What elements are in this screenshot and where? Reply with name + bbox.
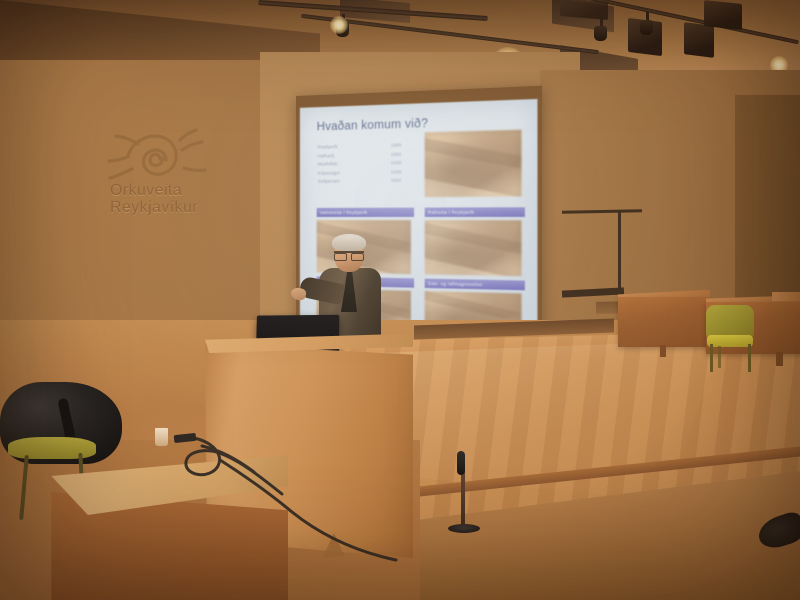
list-item-value: 1929	[391, 168, 402, 177]
microphone-stand	[461, 470, 465, 526]
list-item-value: 1902	[391, 150, 402, 159]
ceiling-speaker	[704, 0, 742, 30]
ceiling-speaker	[684, 22, 714, 58]
list-item-label: Hafnarfj.	[318, 152, 335, 161]
list-item-label: Seltjarnarn	[318, 178, 340, 187]
venue-logo-text: Orkuveita Reykjavíkur	[110, 182, 198, 216]
slide-title: Hvaðan komum við?	[317, 118, 428, 134]
logo-line-1: Orkuveita	[110, 182, 198, 199]
list-item-value: 1909	[391, 141, 402, 150]
spotlight	[640, 20, 653, 35]
lamp-glow	[330, 16, 348, 34]
chair-leg	[718, 346, 721, 368]
slide-banner: Rafveita í Reykjavík	[425, 207, 525, 217]
glasses-icon	[334, 251, 364, 259]
slide-list: Reykjavík 1909 Hafnarfj. 1902 Mosfellsb.…	[318, 141, 402, 186]
slide-photo	[425, 130, 522, 197]
list-item-label: Mosfellsb.	[318, 160, 339, 169]
list-item: Seltjarnarn 1932	[318, 177, 402, 187]
venue-logo: Orkuveita Reykjavíkur	[84, 128, 254, 223]
logo-line-2: Reykjavíkur	[110, 199, 198, 216]
desk	[618, 297, 710, 347]
whiteboard-rail	[618, 212, 621, 294]
desk-leg	[776, 352, 783, 366]
slide-photo	[425, 220, 522, 276]
spotlight	[594, 26, 607, 41]
list-item-label: Kópavogur	[318, 169, 340, 178]
list-item-value: 1932	[391, 177, 402, 186]
desk-leg	[660, 345, 666, 357]
chair-leg	[748, 344, 751, 372]
spiral-swirl-logo-icon	[94, 128, 224, 190]
list-item-value: 1929	[391, 159, 402, 168]
microphone-icon	[457, 451, 465, 475]
slide-banner: Gas- og rafmagnsveitur	[425, 279, 525, 291]
desk-top	[772, 292, 800, 301]
chair-right-seat	[707, 335, 753, 347]
cable-bundle	[150, 420, 450, 590]
presenter-hair	[332, 234, 366, 251]
lecture-hall-photo: Orkuveita Reykjavíkur Hvaðan komum við? …	[0, 0, 800, 600]
slide-banner: Vatnsveita í Reykjavík	[317, 208, 414, 217]
chair-right	[706, 305, 754, 337]
chair-leg	[710, 344, 713, 372]
